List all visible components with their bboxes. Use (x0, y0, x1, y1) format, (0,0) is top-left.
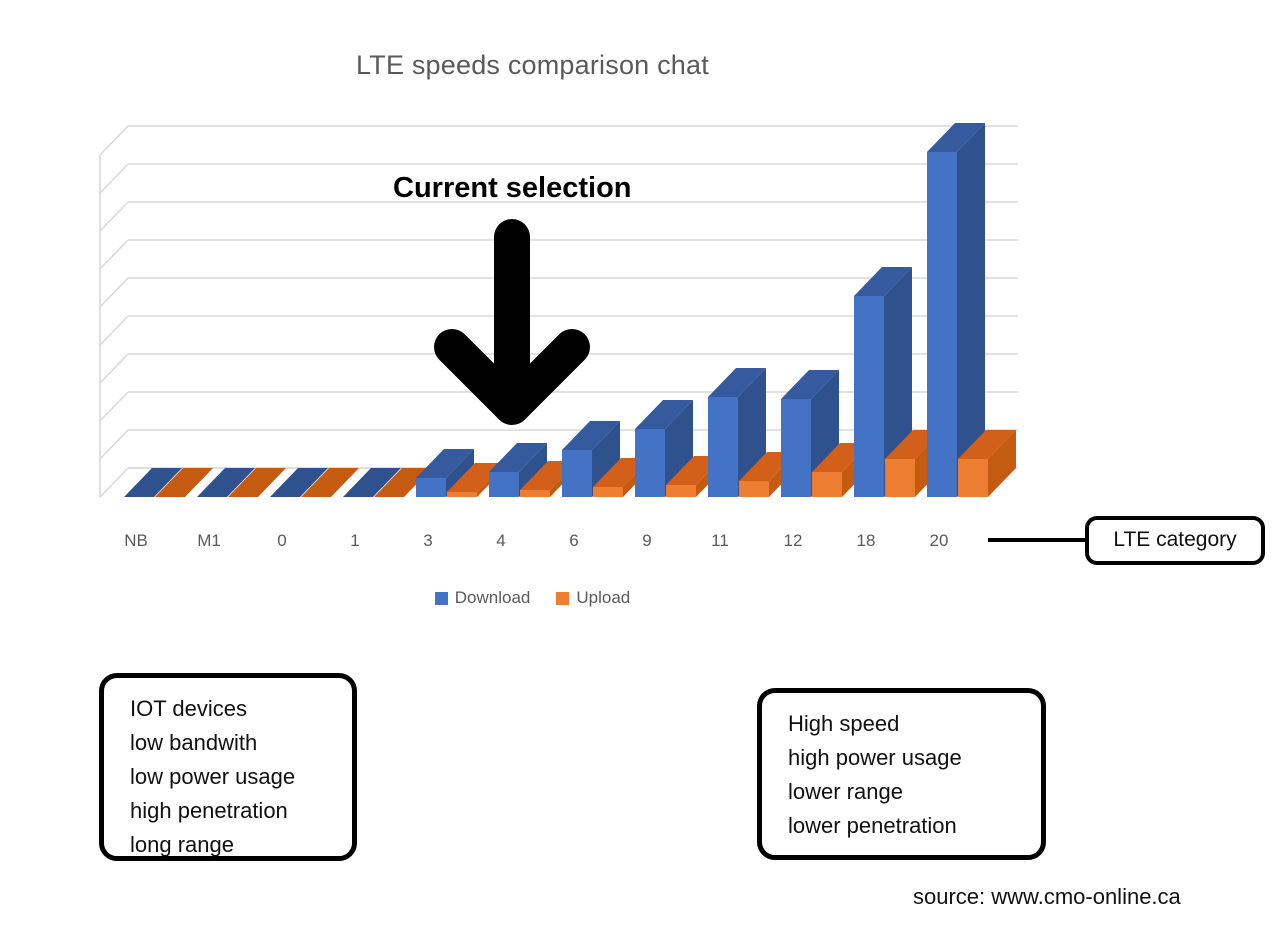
slide-canvas: LTE speeds comparison chat NB M1 0 1 3 4… (0, 0, 1280, 934)
chart-title: LTE speeds comparison chat (0, 50, 1065, 81)
lte-category-callout: LTE category (1085, 516, 1265, 565)
x-axis-tick-20: 20 (909, 531, 969, 551)
x-axis-tick-M1: M1 (179, 531, 239, 551)
x-axis-tick-NB: NB (106, 531, 166, 551)
legend-entry-upload[interactable]: Upload (556, 588, 630, 608)
bar-group-NB (124, 468, 213, 497)
source-attribution: source: www.cmo-online.ca (913, 884, 1181, 910)
bar-group-0 (270, 468, 359, 497)
x-axis-tick-11: 11 (690, 531, 750, 551)
high-speed-characteristics-callout: High speed high power usage lower range … (757, 688, 1046, 860)
down-arrow-icon (430, 215, 595, 440)
callout-right-line-4: lower penetration (788, 809, 1023, 843)
x-axis-tick-12: 12 (763, 531, 823, 551)
legend-label-upload: Upload (576, 588, 630, 608)
callout-left-line-4: high penetration (130, 794, 334, 828)
bar-group-M1 (197, 468, 286, 497)
x-axis-tick-1: 1 (325, 531, 385, 551)
chart-depth-edges (100, 126, 128, 497)
legend-entry-download[interactable]: Download (435, 588, 531, 608)
legend-swatch-download-icon (435, 592, 448, 605)
x-axis-tick-9: 9 (617, 531, 677, 551)
x-axis-tick-3: 3 (398, 531, 458, 551)
chart-legend: Download Upload (0, 588, 1065, 608)
callout-left-line-5: long range (130, 828, 334, 862)
legend-swatch-upload-icon (556, 592, 569, 605)
x-axis-tick-18: 18 (836, 531, 896, 551)
callout-right-line-1: High speed (788, 707, 1023, 741)
lte-category-text: LTE category (1113, 524, 1236, 557)
bar-group-20 (927, 123, 1016, 497)
callout-right-line-3: lower range (788, 775, 1023, 809)
legend-label-download: Download (455, 588, 531, 608)
iot-characteristics-callout: IOT devices low bandwith low power usage… (99, 673, 357, 861)
callout-left-line-3: low power usage (130, 760, 334, 794)
lte-category-leader-line (988, 538, 1088, 542)
callout-left-line-2: low bandwith (130, 726, 334, 760)
x-axis-tick-6: 6 (544, 531, 604, 551)
current-selection-label: Current selection (393, 172, 632, 205)
x-axis-tick-0: 0 (252, 531, 312, 551)
x-axis-tick-4: 4 (471, 531, 531, 551)
callout-right-line-2: high power usage (788, 741, 1023, 775)
callout-left-line-1: IOT devices (130, 692, 334, 726)
